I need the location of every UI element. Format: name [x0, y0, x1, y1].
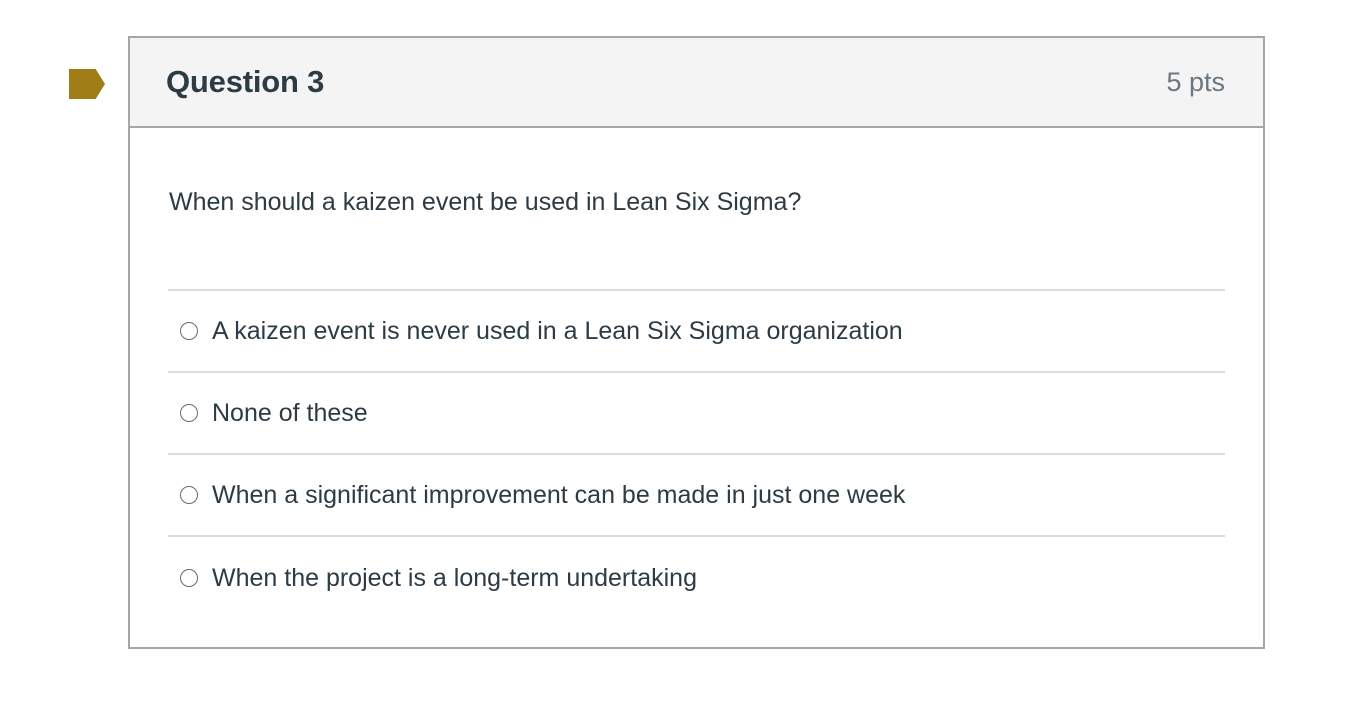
- answer-option-row[interactable]: None of these: [168, 373, 1225, 455]
- answer-option-label: None of these: [212, 398, 368, 428]
- quiz-question-page: Question 3 5 pts When should a kaizen ev…: [0, 0, 1354, 704]
- question-prompt: When should a kaizen event be used in Le…: [169, 128, 1225, 220]
- question-points: 5 pts: [1166, 67, 1225, 98]
- answer-option-row[interactable]: A kaizen event is never used in a Lean S…: [168, 291, 1225, 373]
- question-body: When should a kaizen event be used in Le…: [130, 128, 1263, 619]
- question-title: Question 3: [166, 64, 324, 100]
- answer-option-row[interactable]: When a significant improvement can be ma…: [168, 455, 1225, 537]
- answer-option-label: When the project is a long-term undertak…: [212, 563, 697, 593]
- question-card: Question 3 5 pts When should a kaizen ev…: [128, 36, 1265, 649]
- radio-button-icon[interactable]: [180, 569, 198, 587]
- radio-button-icon[interactable]: [180, 486, 198, 504]
- answer-option-label: A kaizen event is never used in a Lean S…: [212, 316, 903, 346]
- answer-option-row[interactable]: When the project is a long-term undertak…: [168, 537, 1225, 619]
- question-flag-marker-icon: [69, 69, 105, 99]
- answer-option-label: When a significant improvement can be ma…: [212, 480, 905, 510]
- question-header: Question 3 5 pts: [130, 38, 1263, 128]
- radio-button-icon[interactable]: [180, 404, 198, 422]
- answer-options-list: A kaizen event is never used in a Lean S…: [168, 289, 1225, 619]
- radio-button-icon[interactable]: [180, 322, 198, 340]
